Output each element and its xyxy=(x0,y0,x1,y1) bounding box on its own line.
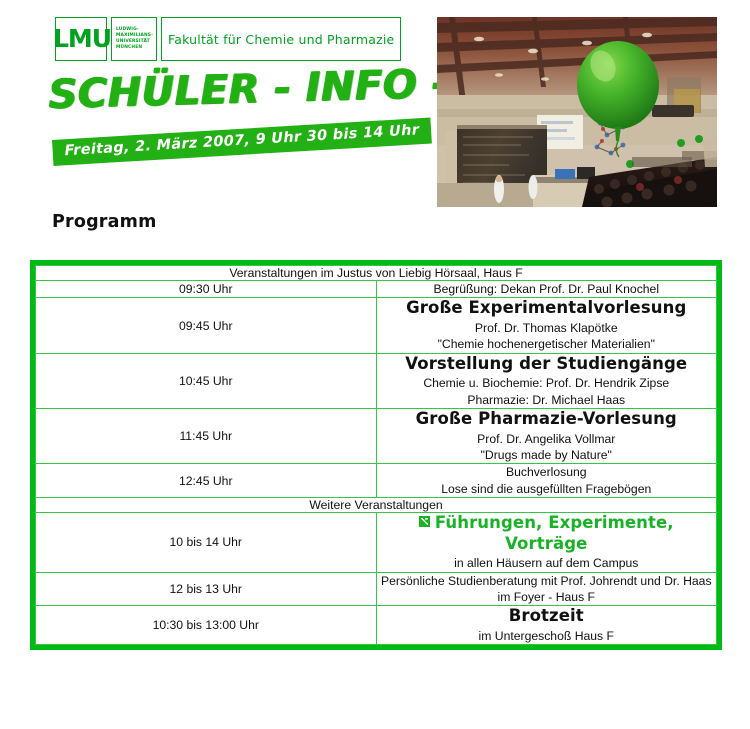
row-sub-line: "Drugs made by Nature" xyxy=(377,447,717,463)
table-section-header-row: Veranstaltungen im Justus von Liebig Hör… xyxy=(36,266,717,281)
row-title: Große Experimentalvorlesung xyxy=(377,298,717,319)
row-description: Große Experimentalvorlesung Prof. Dr. Th… xyxy=(376,298,717,353)
row-sub-line: Lose sind die ausgefüllten Fragebögen xyxy=(377,481,717,497)
programme-table-container: Veranstaltungen im Justus von Liebig Hör… xyxy=(30,260,722,650)
lmu-wordmark: LMU xyxy=(55,17,107,61)
row-sub-line: im Untergeschoß Haus F xyxy=(377,628,717,644)
event-title-graphic: SCHÜLER - INFO - TAG Freitag, 2. März 20… xyxy=(48,72,428,172)
lmu-university-name: LUDWIG- MAXIMILIANS- UNIVERSITÄT MÜNCHEN xyxy=(111,17,157,61)
row-description: Große Pharmazie-Vorlesung Prof. Dr. Ange… xyxy=(376,408,717,463)
row-time: 09:30 Uhr xyxy=(36,281,377,298)
row-sub-line: Persönliche Studienberatung mit Prof. Jo… xyxy=(377,573,717,606)
row-sub-line: in allen Häusern auf dem Campus xyxy=(377,555,717,571)
row-description: Persönliche Studienberatung mit Prof. Jo… xyxy=(376,572,717,606)
row-description: Vorstellung der Studiengänge Chemie u. B… xyxy=(376,353,717,408)
row-description: Brotzeit im Untergeschoß Haus F xyxy=(376,606,717,645)
row-sub-line: Pharmazie: Dr. Michael Haas xyxy=(377,392,717,408)
row-description: Begrüßung: Dekan Prof. Dr. Paul Knochel xyxy=(376,281,717,298)
row-time: 10 bis 14 Uhr xyxy=(36,512,377,572)
row-time: 11:45 Uhr xyxy=(36,408,377,463)
section-header-2: Weitere Veranstaltungen xyxy=(36,497,717,512)
lmu-wordmark-text: LMU xyxy=(51,26,111,52)
section-header-1: Veranstaltungen im Justus von Liebig Hör… xyxy=(36,266,717,281)
row-sub-line: Buchverlosung xyxy=(377,464,717,480)
lmu-logo-block: LMU LUDWIG- MAXIMILIANS- UNIVERSITÄT MÜN… xyxy=(55,17,401,61)
table-section-header-row: Weitere Veranstaltungen xyxy=(36,497,717,512)
row-sub-line: "Chemie hochenergetischer Materialien" xyxy=(377,336,717,352)
table-row: 09:30 Uhr Begrüßung: Dekan Prof. Dr. Pau… xyxy=(36,281,717,298)
row-title: Große Pharmazie-Vorlesung xyxy=(377,409,717,430)
row-sub-line: Chemie u. Biochemie: Prof. Dr. Hendrik Z… xyxy=(377,375,717,391)
row-time: 09:45 Uhr xyxy=(36,298,377,353)
table-row: 12:45 Uhr Buchverlosung Lose sind die au… xyxy=(36,464,717,498)
programme-heading: Programm xyxy=(52,212,157,232)
lmu-univ-line-4: MÜNCHEN xyxy=(116,45,142,51)
table-row: 10:30 bis 13:00 Uhr Brotzeit im Unterges… xyxy=(36,606,717,645)
row-time: 12 bis 13 Uhr xyxy=(36,572,377,606)
table-row: 10 bis 14 Uhr Führungen, Experimente, Vo… xyxy=(36,512,717,572)
row-sub-line: Prof. Dr. Thomas Klapötke xyxy=(377,320,717,336)
row-title-text: Führungen, Experimente, Vorträge xyxy=(435,513,674,553)
row-description: Führungen, Experimente, Vorträge in alle… xyxy=(376,512,717,572)
table-row: 09:45 Uhr Große Experimentalvorlesung Pr… xyxy=(36,298,717,353)
table-row: 12 bis 13 Uhr Persönliche Studienberatun… xyxy=(36,572,717,606)
table-row: 11:45 Uhr Große Pharmazie-Vorlesung Prof… xyxy=(36,408,717,463)
faculty-name-box: Fakultät für Chemie und Pharmazie xyxy=(161,17,401,61)
row-time: 10:45 Uhr xyxy=(36,353,377,408)
row-sub-line: Begrüßung: Dekan Prof. Dr. Paul Knochel xyxy=(377,281,717,297)
lecture-hall-photo-image xyxy=(437,17,717,207)
row-description: Buchverlosung Lose sind die ausgefüllten… xyxy=(376,464,717,498)
external-link-icon xyxy=(419,516,430,527)
lecture-hall-photo xyxy=(437,17,717,207)
programme-table: Veranstaltungen im Justus von Liebig Hör… xyxy=(35,265,717,645)
row-time: 12:45 Uhr xyxy=(36,464,377,498)
table-row: 10:45 Uhr Vorstellung der Studiengänge C… xyxy=(36,353,717,408)
row-title[interactable]: Führungen, Experimente, Vorträge xyxy=(377,513,717,554)
faculty-name-text: Fakultät für Chemie und Pharmazie xyxy=(168,32,394,47)
row-title: Brotzeit xyxy=(377,606,717,627)
event-date-banner: Freitag, 2. März 2007, 9 Uhr 30 bis 14 U… xyxy=(52,118,432,166)
row-title: Vorstellung der Studiengänge xyxy=(377,354,717,375)
row-sub-line: Prof. Dr. Angelika Vollmar xyxy=(377,431,717,447)
header-area: LMU LUDWIG- MAXIMILIANS- UNIVERSITÄT MÜN… xyxy=(0,0,750,210)
row-time: 10:30 bis 13:00 Uhr xyxy=(36,606,377,645)
event-date-text: Freitag, 2. März 2007, 9 Uhr 30 bis 14 U… xyxy=(64,122,419,159)
